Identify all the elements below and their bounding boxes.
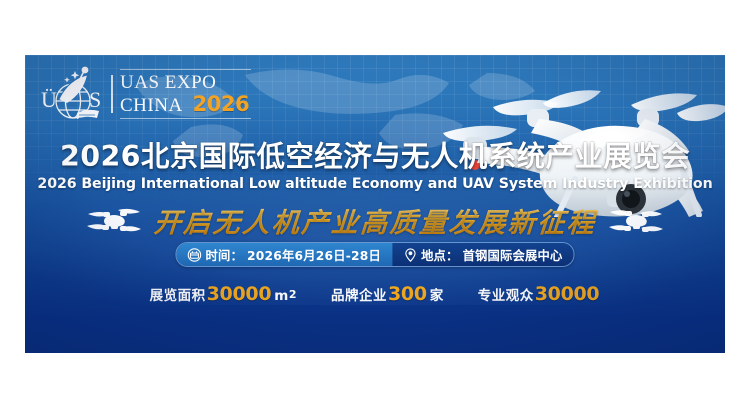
slogan-calligraphy: 开启无人机产业高质量发展新征程 (152, 201, 597, 240)
svg-text:Ü: Ü (41, 87, 57, 112)
exhibition-banner: Ü S UAS EXPO CHINA 2026 2026北京国际低空经济与无人机… (25, 55, 725, 353)
headline-chinese: 2026北京国际低空经济与无人机系统产业展览会 (25, 141, 725, 173)
stat-value: 300 (387, 283, 428, 305)
white-quadcopter-drone-photo (431, 55, 725, 217)
logo-china-label: CHINA (120, 96, 183, 116)
logo-lockup[interactable]: Ü S UAS EXPO CHINA 2026 (39, 65, 249, 123)
drone-silhouette-right-icon (608, 206, 664, 236)
stat-professional-visitors: 专业观众 30000 (478, 283, 601, 305)
logo-rule-top (120, 69, 251, 70)
stat-label: 专业观众 (478, 284, 534, 304)
logo-rule-bottom (120, 118, 251, 119)
event-time-segment[interactable]: 时间： 2026年6月26日-28日 (176, 243, 392, 266)
logo-line-china-year: CHINA 2026 (120, 93, 249, 116)
stats-row: 展览面积 30000 m 2 品牌企业 300 家 专业观众 30000 (25, 283, 725, 305)
event-time-label: 时间： (205, 246, 243, 264)
event-time-value: 2026年6月26日-28日 (247, 246, 381, 264)
logo-line-uas-expo: UAS EXPO (120, 73, 249, 93)
event-place-value: 首钢国际会展中心 (463, 246, 563, 264)
logo-text-block: UAS EXPO CHINA 2026 (111, 72, 249, 117)
stat-label: 品牌企业 (331, 284, 387, 304)
stat-value: 30000 (534, 283, 601, 305)
headline-english: 2026 Beijing International Low altitude … (25, 176, 725, 192)
event-place-label: 地点： (421, 246, 459, 264)
drone-silhouette-left-icon (86, 206, 142, 236)
stat-unit: 家 (428, 284, 444, 304)
event-info-bar: 时间： 2026年6月26日-28日 地点： 首钢国际会展中心 (175, 242, 574, 267)
stat-exhibition-area: 展览面积 30000 m 2 (150, 283, 297, 305)
stat-unit: m (272, 288, 289, 304)
stat-label: 展览面积 (150, 284, 206, 304)
uas-globe-satellite-logo-icon: Ü S (39, 65, 107, 123)
logo-year-label: 2026 (193, 93, 249, 115)
headline-block: 2026北京国际低空经济与无人机系统产业展览会 2026 Beijing Int… (25, 141, 725, 192)
slogan-row: 开启无人机产业高质量发展新征程 (25, 201, 725, 240)
location-pin-icon (403, 248, 417, 262)
calendar-icon (187, 248, 201, 262)
stat-value: 30000 (206, 283, 273, 305)
screenshot-canvas: Ü S UAS EXPO CHINA 2026 2026北京国际低空经济与无人机… (0, 0, 750, 410)
stat-unit-superscript: 2 (289, 288, 297, 301)
event-place-segment[interactable]: 地点： 首钢国际会展中心 (392, 243, 573, 266)
svg-text:S: S (89, 87, 101, 112)
stat-brand-companies: 品牌企业 300 家 (331, 283, 444, 305)
